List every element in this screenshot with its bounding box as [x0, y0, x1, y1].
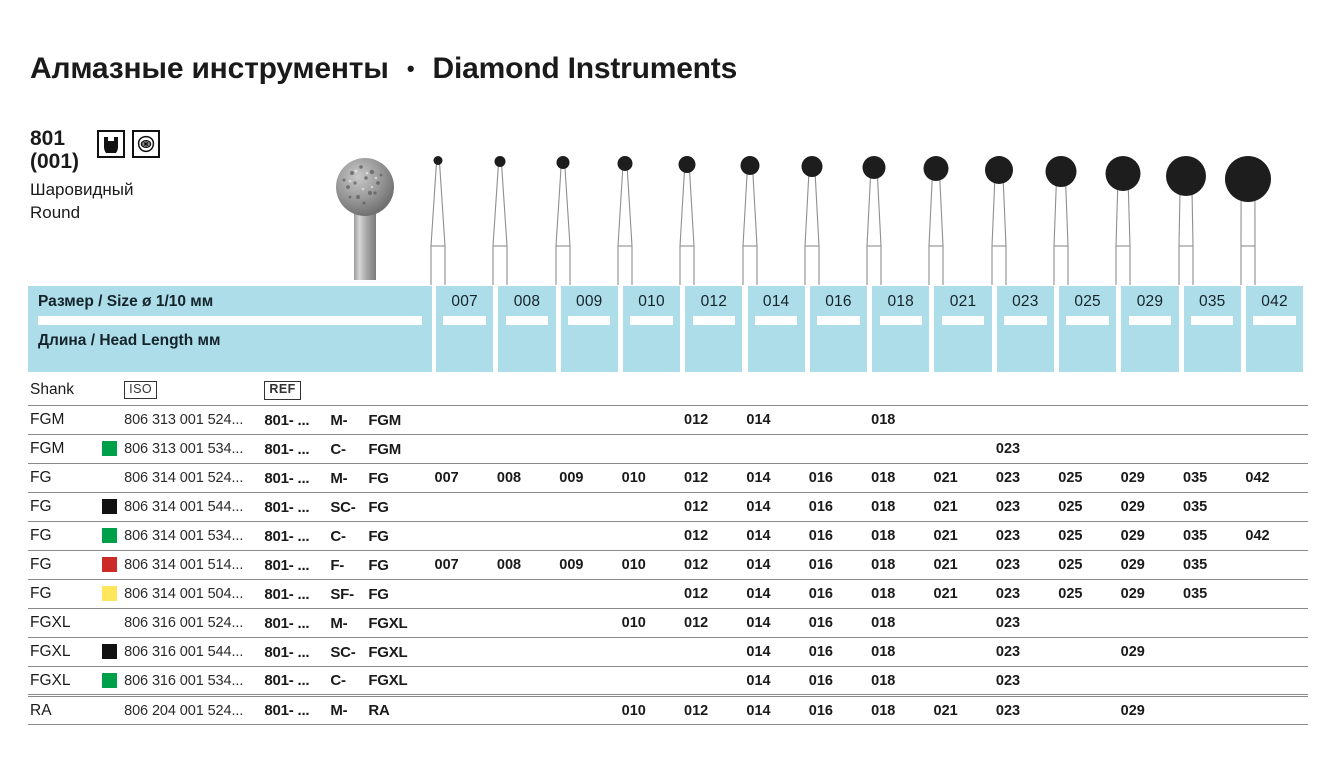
cell-size-023[interactable]: 023 [996, 638, 1058, 667]
size-label: Размер / Size ø 1/10 мм [38, 293, 432, 310]
bur-holder-icon [97, 130, 125, 158]
cell-size-empty [622, 638, 684, 667]
cell-size-014[interactable]: 014 [746, 609, 808, 638]
ref-part-prefix: 801- ... [264, 470, 326, 487]
cell-size-empty [1245, 638, 1308, 667]
cell-size-029[interactable]: 029 [1121, 638, 1183, 667]
cell-size-029[interactable]: 029 [1121, 551, 1183, 580]
cell-size-empty [1121, 667, 1183, 696]
cell-ref-code: 801- ...C-FGM [264, 435, 434, 464]
cell-shank: FGXL [28, 667, 102, 696]
cell-size-016[interactable]: 016 [809, 493, 871, 522]
ref-part-prefix: 801- ... [264, 499, 326, 516]
cell-size-014[interactable]: 014 [746, 406, 808, 435]
ref-part-shank: FGM [368, 441, 401, 458]
cell-size-016[interactable]: 016 [809, 667, 871, 696]
ref-part-prefix: 801- ... [264, 412, 326, 429]
cell-size-empty [1121, 435, 1183, 464]
cell-size-016[interactable]: 016 [809, 609, 871, 638]
size-value: 009 [561, 286, 618, 311]
cell-size-018[interactable]: 018 [871, 493, 933, 522]
cell-size-empty [435, 638, 497, 667]
cell-iso-code: 806 314 001 504... [124, 580, 264, 609]
size-column-010: 010 [623, 286, 680, 372]
cell-size-empty [559, 435, 621, 464]
cell-size-empty [559, 638, 621, 667]
cell-size-empty [1183, 609, 1245, 638]
cell-size-035[interactable]: 035 [1183, 580, 1245, 609]
ref-part-grit: SC- [330, 499, 364, 516]
cell-size-empty [934, 667, 996, 696]
product-identity-block: 801 (001) Шаровидный Round [30, 128, 290, 224]
cell-iso-code: 806 316 001 544... [124, 638, 264, 667]
size-column-009: 009 [561, 286, 618, 372]
cell-grit-color-swatch [102, 522, 124, 551]
cell-size-025[interactable]: 025 [1058, 493, 1120, 522]
cell-size-023[interactable]: 023 [996, 609, 1058, 638]
cell-ref-code: 801- ...SF-FG [264, 580, 434, 609]
cell-size-018[interactable]: 018 [871, 406, 933, 435]
ref-part-prefix: 801- ... [264, 557, 326, 574]
cell-shank: FG [28, 464, 102, 493]
cell-size-empty [1058, 667, 1120, 696]
size-column-divider [693, 316, 735, 325]
cell-size-029[interactable]: 029 [1121, 580, 1183, 609]
cell-size-empty [684, 667, 746, 696]
cell-size-010[interactable]: 010 [622, 696, 684, 725]
table-row[interactable]: FGM806 313 001 534...801- ...C-FGM023 [28, 435, 1308, 464]
cell-size-016[interactable]: 016 [809, 522, 871, 551]
cell-size-035[interactable]: 035 [1183, 464, 1245, 493]
cell-size-021[interactable]: 021 [934, 522, 996, 551]
cell-size-014[interactable]: 014 [746, 551, 808, 580]
diamond-ball-bur-photo [320, 145, 410, 285]
cell-grit-color-swatch [102, 464, 124, 493]
bur-drawing-010 [595, 150, 655, 285]
size-column-018: 018 [872, 286, 929, 372]
cell-size-010[interactable]: 010 [622, 551, 684, 580]
cell-size-empty [934, 435, 996, 464]
table-header-row: Shank ISO REF [28, 378, 1308, 406]
cell-shank: FGXL [28, 609, 102, 638]
cell-size-empty [435, 522, 497, 551]
cell-size-empty [1183, 696, 1245, 725]
cell-size-008[interactable]: 008 [497, 464, 559, 493]
cell-size-025[interactable]: 025 [1058, 551, 1120, 580]
size-column-007: 007 [436, 286, 493, 372]
bur-drawing-012 [657, 150, 717, 285]
cell-size-023[interactable]: 023 [996, 522, 1058, 551]
size-column-divider [1191, 316, 1233, 325]
bur-drawing-014 [720, 150, 780, 285]
cell-size-009[interactable]: 009 [559, 464, 621, 493]
cell-size-042[interactable]: 042 [1245, 464, 1308, 493]
size-value: 025 [1059, 286, 1116, 311]
cell-size-empty [559, 609, 621, 638]
bur-drawing-009 [533, 150, 593, 285]
cell-size-empty [435, 696, 497, 725]
cell-size-016[interactable]: 016 [809, 580, 871, 609]
cell-size-empty [1058, 638, 1120, 667]
bur-drawing-025 [1031, 150, 1091, 285]
head-length-value [498, 325, 555, 329]
cell-size-012[interactable]: 012 [684, 464, 746, 493]
header-ref: REF [264, 378, 434, 406]
head-length-value [934, 325, 991, 329]
cell-iso-code: 806 314 001 524... [124, 464, 264, 493]
cell-size-018[interactable]: 018 [871, 464, 933, 493]
cell-size-042[interactable]: 042 [1245, 522, 1308, 551]
cell-grit-color-swatch [102, 493, 124, 522]
cell-size-010[interactable]: 010 [622, 464, 684, 493]
ref-part-prefix: 801- ... [264, 586, 326, 603]
cell-size-029[interactable]: 029 [1121, 696, 1183, 725]
cell-size-007[interactable]: 007 [435, 464, 497, 493]
cell-iso-code: 806 316 001 534... [124, 667, 264, 696]
cell-size-016[interactable]: 016 [809, 638, 871, 667]
cell-shank: FGXL [28, 638, 102, 667]
size-value: 007 [436, 286, 493, 311]
cell-size-018[interactable]: 018 [871, 551, 933, 580]
size-value: 023 [997, 286, 1054, 311]
bur-drawing-021 [906, 150, 966, 285]
page-title-ru: Алмазные инструменты [30, 52, 389, 85]
cell-size-012[interactable]: 012 [684, 522, 746, 551]
cell-size-empty [934, 406, 996, 435]
cell-ref-code: 801- ...C-FGXL [264, 667, 434, 696]
grit-swatch-green [102, 673, 117, 688]
size-column-divider [1253, 316, 1295, 325]
cell-size-023[interactable]: 023 [996, 464, 1058, 493]
size-column-divider [1066, 316, 1108, 325]
cell-grit-color-swatch [102, 609, 124, 638]
cell-size-018[interactable]: 018 [871, 580, 933, 609]
bur-drawing-023 [969, 150, 1029, 285]
page-title: Алмазные инструменты • Diamond Instrumen… [30, 52, 737, 86]
head-length-value [623, 325, 680, 329]
cell-size-empty [559, 522, 621, 551]
cell-size-empty [559, 696, 621, 725]
cell-size-021[interactable]: 021 [934, 580, 996, 609]
cell-iso-code: 806 314 001 544... [124, 493, 264, 522]
cell-size-empty [497, 406, 559, 435]
cell-size-empty [497, 522, 559, 551]
cell-size-empty [559, 493, 621, 522]
cell-size-014[interactable]: 014 [746, 522, 808, 551]
cell-size-empty [497, 667, 559, 696]
cell-size-empty [809, 406, 871, 435]
cell-iso-code: 806 316 001 524... [124, 609, 264, 638]
table-row[interactable]: FG806 314 001 514...801- ...F-FG00700800… [28, 551, 1308, 580]
cell-size-empty [497, 580, 559, 609]
cell-size-empty [1058, 696, 1120, 725]
size-column-012: 012 [685, 286, 742, 372]
cell-size-018[interactable]: 018 [871, 667, 933, 696]
cell-size-014[interactable]: 014 [746, 696, 808, 725]
grit-swatch-green [102, 441, 117, 456]
ref-part-prefix: 801- ... [264, 672, 326, 689]
cell-size-empty [622, 435, 684, 464]
table-row[interactable]: FG806 314 001 524...801- ...M-FG00700800… [28, 464, 1308, 493]
bur-drawing-007 [408, 150, 468, 285]
cell-size-023[interactable]: 023 [996, 580, 1058, 609]
cell-size-007[interactable]: 007 [435, 551, 497, 580]
cell-size-empty [435, 493, 497, 522]
cell-iso-code: 806 313 001 524... [124, 406, 264, 435]
cell-size-029[interactable]: 029 [1121, 464, 1183, 493]
ref-part-shank: RA [368, 702, 389, 719]
cell-size-018[interactable]: 018 [871, 696, 933, 725]
ref-part-prefix: 801- ... [264, 702, 326, 719]
product-name-ru: Шаровидный [30, 179, 290, 201]
cell-size-012[interactable]: 012 [684, 609, 746, 638]
cell-size-empty [934, 638, 996, 667]
cell-size-empty [622, 667, 684, 696]
size-column-016: 016 [810, 286, 867, 372]
head-length-value [872, 325, 929, 329]
cell-grit-color-swatch [102, 638, 124, 667]
size-value: 010 [623, 286, 680, 311]
cell-size-023[interactable]: 023 [996, 493, 1058, 522]
table-row[interactable]: FG806 314 001 504...801- ...SF-FG0120140… [28, 580, 1308, 609]
ref-part-grit: SC- [330, 644, 364, 661]
cell-size-025[interactable]: 025 [1058, 580, 1120, 609]
cell-size-008[interactable]: 008 [497, 551, 559, 580]
size-header-band: Размер / Size ø 1/10 мм Длина / Head Len… [28, 286, 1308, 372]
size-value: 021 [934, 286, 991, 311]
cell-size-empty [622, 406, 684, 435]
cell-size-021[interactable]: 021 [934, 696, 996, 725]
head-length-label: Длина / Head Length мм [38, 332, 432, 349]
grit-swatch-yellow [102, 586, 117, 601]
cell-size-023[interactable]: 023 [996, 435, 1058, 464]
size-header-labels: Размер / Size ø 1/10 мм Длина / Head Len… [28, 286, 432, 372]
cell-iso-code: 806 204 001 524... [124, 696, 264, 725]
ref-part-shank: FGXL [368, 672, 407, 689]
grit-swatch-black [102, 499, 117, 514]
cell-size-empty [435, 580, 497, 609]
cell-size-025[interactable]: 025 [1058, 464, 1120, 493]
cell-size-021[interactable]: 021 [934, 493, 996, 522]
grit-swatch-black [102, 644, 117, 659]
bur-drawing-016 [782, 150, 842, 285]
cell-iso-code: 806 314 001 534... [124, 522, 264, 551]
cell-size-035[interactable]: 035 [1183, 551, 1245, 580]
head-length-value [436, 325, 493, 329]
size-value: 042 [1246, 286, 1303, 311]
grit-swatch-red [102, 557, 117, 572]
tooth-icon [132, 130, 160, 158]
cell-size-014[interactable]: 014 [746, 493, 808, 522]
head-length-value [1121, 325, 1178, 329]
cell-ref-code: 801- ...SC-FG [264, 493, 434, 522]
header-iso: ISO [124, 378, 264, 406]
table-row[interactable]: FG806 314 001 544...801- ...SC-FG0120140… [28, 493, 1308, 522]
cell-size-012[interactable]: 012 [684, 551, 746, 580]
header-size-spacer [435, 378, 1308, 406]
size-column-divider [942, 316, 984, 325]
cell-size-empty [1183, 667, 1245, 696]
bur-drawing-035 [1156, 150, 1216, 285]
header-shank: Shank [28, 378, 102, 406]
cell-size-empty [435, 406, 497, 435]
cell-size-empty [497, 493, 559, 522]
table-row[interactable]: FG806 314 001 534...801- ...C-FG01201401… [28, 522, 1308, 551]
bur-drawing-008 [470, 150, 530, 285]
cell-ref-code: 801- ...M-FGM [264, 406, 434, 435]
cell-grit-color-swatch [102, 551, 124, 580]
cell-ref-code: 801- ...SC-FGXL [264, 638, 434, 667]
cell-size-016[interactable]: 016 [809, 464, 871, 493]
ref-part-grit: M- [330, 412, 364, 429]
cell-size-025[interactable]: 025 [1058, 522, 1120, 551]
ref-part-shank: FGXL [368, 644, 407, 661]
cell-size-014[interactable]: 014 [746, 580, 808, 609]
head-length-value [1059, 325, 1116, 329]
size-value: 016 [810, 286, 867, 311]
cell-ref-code: 801- ...C-FG [264, 522, 434, 551]
cell-size-empty [622, 522, 684, 551]
cell-size-021[interactable]: 021 [934, 551, 996, 580]
cell-size-empty [1245, 493, 1308, 522]
cell-ref-code: 801- ...F-FG [264, 551, 434, 580]
head-length-value [1246, 325, 1303, 329]
cell-size-empty [1183, 406, 1245, 435]
size-column-035: 035 [1184, 286, 1241, 372]
ref-badge: REF [264, 381, 301, 400]
ref-part-shank: FG [368, 557, 388, 574]
table-row[interactable]: FGXL806 316 001 524...801- ...M-FGXL0100… [28, 609, 1308, 638]
cell-size-empty [1245, 609, 1308, 638]
cell-size-016[interactable]: 016 [809, 696, 871, 725]
ref-part-shank: FG [368, 528, 388, 545]
cell-size-empty [1058, 435, 1120, 464]
cell-size-012[interactable]: 012 [684, 696, 746, 725]
cell-size-empty [1058, 406, 1120, 435]
cell-size-empty [559, 580, 621, 609]
table-row[interactable]: FGXL806 316 001 544...801- ...SC-FGXL014… [28, 638, 1308, 667]
size-column-014: 014 [748, 286, 805, 372]
ref-part-shank: FG [368, 499, 388, 516]
cell-size-012[interactable]: 012 [684, 406, 746, 435]
cell-size-empty [1121, 609, 1183, 638]
cell-shank: RA [28, 696, 102, 725]
cell-size-empty [622, 493, 684, 522]
cell-size-029[interactable]: 029 [1121, 493, 1183, 522]
cell-shank: FGM [28, 406, 102, 435]
cell-size-009[interactable]: 009 [559, 551, 621, 580]
cell-size-empty [497, 696, 559, 725]
cell-ref-code: 801- ...M-RA [264, 696, 434, 725]
head-length-value [1184, 325, 1241, 329]
cell-size-035[interactable]: 035 [1183, 493, 1245, 522]
head-length-value [748, 325, 805, 329]
cell-size-023[interactable]: 023 [996, 667, 1058, 696]
cell-size-012[interactable]: 012 [684, 580, 746, 609]
cell-size-035[interactable]: 035 [1183, 522, 1245, 551]
head-length-value [685, 325, 742, 329]
cell-size-empty [497, 609, 559, 638]
cell-size-018[interactable]: 018 [871, 522, 933, 551]
size-value: 014 [748, 286, 805, 311]
cell-iso-code: 806 314 001 514... [124, 551, 264, 580]
cell-size-014[interactable]: 014 [746, 464, 808, 493]
cell-size-014[interactable]: 014 [746, 638, 808, 667]
page-title-en: Diamond Instruments [433, 52, 738, 85]
ref-part-shank: FGM [368, 412, 401, 429]
cell-size-014[interactable]: 014 [746, 667, 808, 696]
title-separator: • [397, 56, 425, 81]
size-column-divider [506, 316, 548, 325]
size-value: 008 [498, 286, 555, 311]
size-column-029: 029 [1121, 286, 1178, 372]
size-column-023: 023 [997, 286, 1054, 372]
ref-part-shank: FG [368, 586, 388, 603]
cell-size-empty [1058, 609, 1120, 638]
cell-ref-code: 801- ...M-FG [264, 464, 434, 493]
ref-part-prefix: 801- ... [264, 441, 326, 458]
cell-size-010[interactable]: 010 [622, 609, 684, 638]
cell-shank: FGM [28, 435, 102, 464]
cell-iso-code: 806 313 001 534... [124, 435, 264, 464]
ref-part-grit: C- [330, 528, 364, 545]
cell-size-empty [1183, 638, 1245, 667]
cell-grit-color-swatch [102, 435, 124, 464]
cell-shank: FG [28, 522, 102, 551]
ref-part-shank: FGXL [368, 615, 407, 632]
bur-drawing-042 [1218, 150, 1278, 285]
cell-size-012[interactable]: 012 [684, 493, 746, 522]
cell-size-empty [746, 435, 808, 464]
size-column-021: 021 [934, 286, 991, 372]
cell-size-021[interactable]: 021 [934, 464, 996, 493]
cell-size-016[interactable]: 016 [809, 551, 871, 580]
cell-shank: FG [28, 493, 102, 522]
bur-drawing-018 [844, 150, 904, 285]
product-code-alt: (001) [30, 151, 79, 174]
cell-size-empty [1245, 435, 1308, 464]
cell-size-029[interactable]: 029 [1121, 522, 1183, 551]
ref-part-grit: M- [330, 615, 364, 632]
size-column-divider [630, 316, 672, 325]
ref-part-grit: M- [330, 470, 364, 487]
cell-size-023[interactable]: 023 [996, 551, 1058, 580]
cell-grit-color-swatch [102, 580, 124, 609]
size-columns: 0070080090100120140160180210230250290350… [436, 286, 1308, 372]
cell-size-empty [497, 638, 559, 667]
size-value: 029 [1121, 286, 1178, 311]
cell-size-empty [559, 667, 621, 696]
size-label-divider [38, 316, 422, 325]
table-row[interactable]: FGXL806 316 001 534...801- ...C-FGXL0140… [28, 667, 1308, 696]
cell-size-empty [684, 638, 746, 667]
size-column-divider [755, 316, 797, 325]
cell-size-empty [1245, 406, 1308, 435]
cell-size-023[interactable]: 023 [996, 696, 1058, 725]
grit-swatch-green [102, 528, 117, 543]
head-length-value [810, 325, 867, 329]
cell-size-empty [435, 667, 497, 696]
ref-part-prefix: 801- ... [264, 615, 326, 632]
cell-size-empty [684, 435, 746, 464]
cell-size-018[interactable]: 018 [871, 609, 933, 638]
table-row[interactable]: RA806 204 001 524...801- ...M-RA01001201… [28, 696, 1308, 725]
ref-part-grit: F- [330, 557, 364, 574]
cell-size-018[interactable]: 018 [871, 638, 933, 667]
cell-shank: FG [28, 580, 102, 609]
table-row[interactable]: FGM806 313 001 524...801- ...M-FGM012014… [28, 406, 1308, 435]
cell-grit-color-swatch [102, 667, 124, 696]
